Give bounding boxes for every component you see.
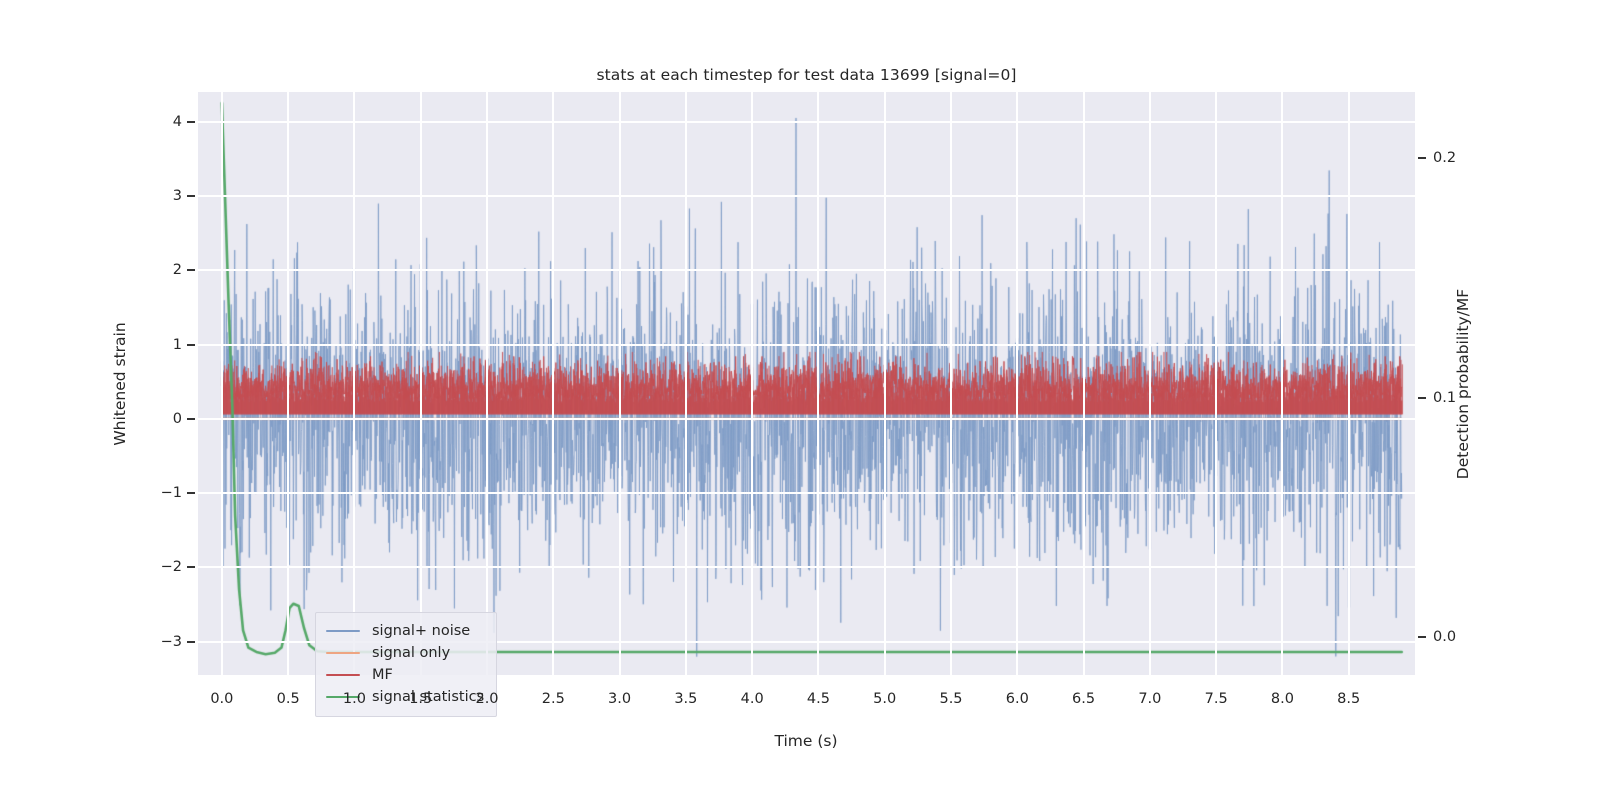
x-axis-ticklabel: 5.5 [939, 691, 962, 707]
x-axis-ticklabel: 3.0 [608, 691, 631, 707]
y-axis-right-ticklabel: 0.0 [1433, 629, 1483, 645]
y-axis-left-tick [187, 566, 195, 568]
y-axis-left-ticklabel: 3 [134, 188, 182, 204]
gridline-vertical [884, 92, 886, 675]
x-axis-ticklabel: 7.0 [1138, 691, 1161, 707]
legend-item[interactable]: MF [326, 664, 484, 686]
legend-swatch-line-icon [326, 674, 360, 677]
gridline-horizontal [198, 418, 1415, 420]
y-axis-left-ticklabel: 4 [134, 114, 182, 130]
x-axis-ticklabel: 0.5 [277, 691, 300, 707]
gridline-vertical [751, 92, 753, 675]
legend-label: signal only [372, 645, 450, 661]
y-axis-right-tick [1418, 636, 1426, 638]
gridline-horizontal [198, 195, 1415, 197]
x-axis-ticklabel: 4.5 [807, 691, 830, 707]
gridline-vertical [486, 92, 488, 675]
x-axis-ticklabel: 1.0 [343, 691, 366, 707]
x-axis-ticklabel: 1.5 [409, 691, 432, 707]
y-axis-right-tick [1418, 157, 1426, 159]
y-axis-left-tick [187, 121, 195, 123]
x-axis-ticklabel: 7.5 [1205, 691, 1228, 707]
y-axis-right-tick [1418, 397, 1426, 399]
x-axis-ticklabel: 0.0 [210, 691, 233, 707]
y-axis-left-ticklabel: 0 [134, 411, 182, 427]
y-axis-left-tick [187, 418, 195, 420]
gridline-horizontal [198, 492, 1415, 494]
y-axis-left-label: Whitened strain [111, 322, 129, 445]
gridline-vertical [287, 92, 289, 675]
x-axis-label: Time (s) [774, 732, 837, 750]
page-title: stats at each timestep for test data 136… [198, 66, 1415, 84]
gridline-horizontal [198, 344, 1415, 346]
figure-canvas: stats at each timestep for test data 136… [0, 0, 1600, 800]
gridline-vertical [353, 92, 355, 675]
y-axis-left-tick [187, 344, 195, 346]
y-axis-right-ticklabel: 0.1 [1433, 390, 1483, 406]
legend-swatch-line-icon [326, 652, 360, 655]
y-axis-left-tick [187, 269, 195, 271]
gridline-vertical [1016, 92, 1018, 675]
gridline-vertical [221, 92, 223, 675]
y-axis-left-ticklabel: −3 [134, 634, 182, 650]
legend-swatch-line-icon [326, 630, 360, 633]
gridline-vertical [1348, 92, 1350, 675]
y-axis-left-tick [187, 195, 195, 197]
gridline-horizontal [198, 121, 1415, 123]
legend-label: signal+ noise [372, 623, 470, 639]
x-axis-ticklabel: 8.5 [1337, 691, 1360, 707]
gridline-vertical [1083, 92, 1085, 675]
x-axis-ticklabel: 5.0 [873, 691, 896, 707]
y-axis-left-ticklabel: 2 [134, 262, 182, 278]
gridline-vertical [1149, 92, 1151, 675]
x-axis-ticklabel: 3.5 [674, 691, 697, 707]
y-axis-right-label: Detection probability/MF [1454, 289, 1472, 479]
x-axis-ticklabel: 6.5 [1072, 691, 1095, 707]
y-axis-left-ticklabel: −1 [134, 485, 182, 501]
legend-item[interactable]: signal only [326, 642, 484, 664]
x-axis-ticklabel: 8.0 [1271, 691, 1294, 707]
gridline-vertical [552, 92, 554, 675]
gridline-vertical [1281, 92, 1283, 675]
gridline-vertical [420, 92, 422, 675]
gridline-vertical [950, 92, 952, 675]
x-axis-ticklabel: 4.0 [741, 691, 764, 707]
gridline-horizontal [198, 269, 1415, 271]
gridline-vertical [1215, 92, 1217, 675]
gridline-vertical [619, 92, 621, 675]
y-axis-left-ticklabel: −2 [134, 559, 182, 575]
y-axis-right-ticklabel: 0.2 [1433, 150, 1483, 166]
gridline-horizontal [198, 566, 1415, 568]
plot-area[interactable] [198, 92, 1415, 675]
legend-label: MF [372, 667, 393, 683]
gridline-vertical [817, 92, 819, 675]
legend-item[interactable]: signal+ noise [326, 620, 484, 642]
y-axis-left-ticklabel: 1 [134, 337, 182, 353]
x-axis-ticklabel: 6.0 [1006, 691, 1029, 707]
y-axis-left-tick [187, 641, 195, 643]
grid-layer [198, 92, 1415, 675]
gridline-vertical [685, 92, 687, 675]
x-axis-ticklabel: 2.5 [542, 691, 565, 707]
x-axis-ticklabel: 2.0 [475, 691, 498, 707]
y-axis-left-tick [187, 492, 195, 494]
